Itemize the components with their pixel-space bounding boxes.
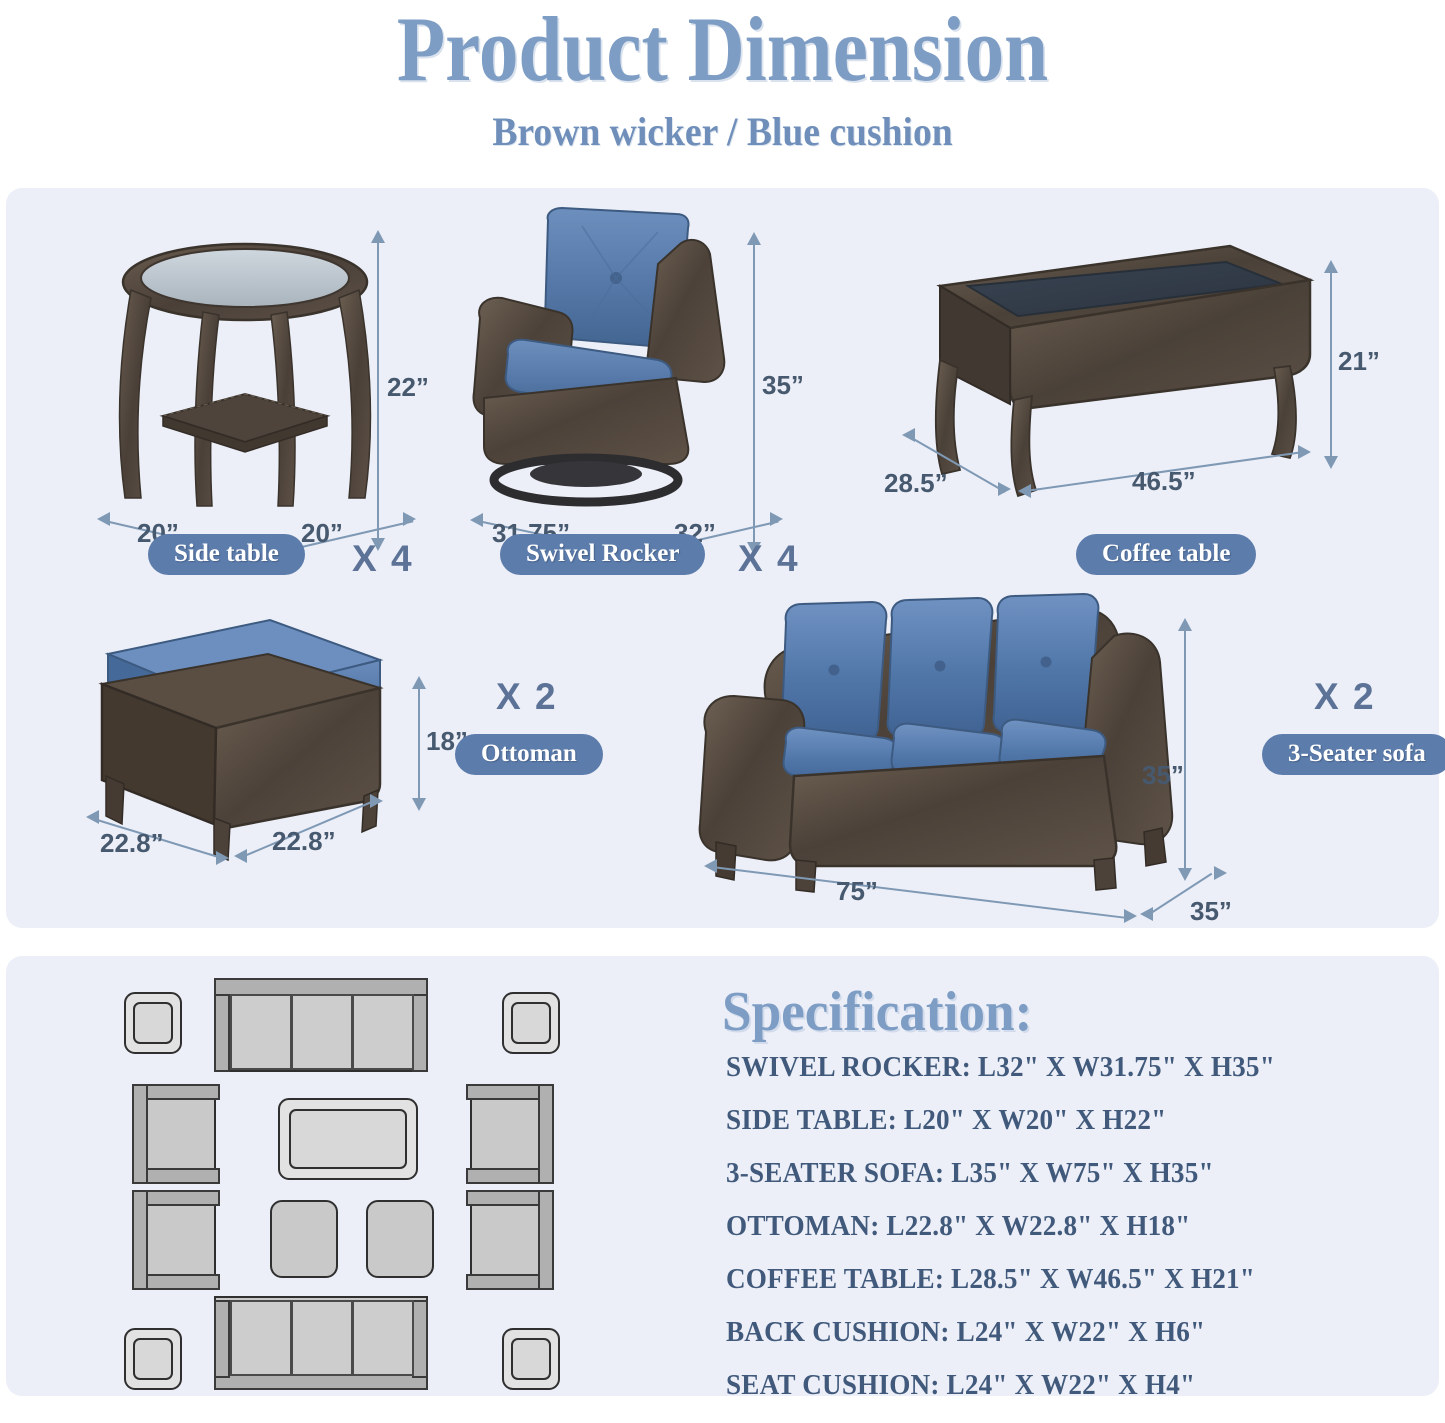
coffee-table-height-label: 21” [1338, 346, 1380, 377]
spec-item: 3-SEATER SOFA: L35" X W75" X H35" [726, 1158, 1405, 1190]
coffee-table-depth-label: 28.5” [884, 468, 948, 499]
page-subtitle: Brown wicker / Blue cushion [43, 108, 1401, 155]
ottoman-width-arrow-left [86, 810, 99, 824]
swivel-rocker-illustration [462, 202, 762, 512]
coffee-table-depth-arrow-right [998, 482, 1011, 496]
spec-item: COFFEE TABLE: L28.5" X W46.5" X H21" [726, 1264, 1405, 1296]
swivel-rocker-width-arrow-left [470, 513, 483, 527]
product-three-seater-sofa: 35” 75” 35” [690, 578, 1250, 908]
plan-side-table-bottom-left [124, 1328, 182, 1390]
ottoman-name: Ottoman [455, 734, 603, 775]
side-table-height-line [377, 240, 379, 540]
side-table-label-pill: Side table [148, 534, 305, 575]
side-table-width-arrow-left [97, 512, 110, 526]
sofa-depth-arrow-right [1214, 866, 1227, 880]
coffee-table-width-arrow-left [1018, 484, 1031, 498]
swivel-rocker-label-pill: Swivel Rocker [500, 534, 705, 575]
swivel-rocker-name: Swivel Rocker [500, 534, 705, 575]
side-table-name: Side table [148, 534, 305, 575]
page-title: Product Dimension [101, 4, 1344, 94]
spec-item: SEAT CUSHION: L24" X W22" X H4" [726, 1370, 1405, 1402]
side-table-depth-arrow-right [403, 512, 416, 526]
plan-swivel-rocker-right-bottom [470, 1190, 554, 1290]
side-table-height-label: 22” [387, 372, 429, 403]
product-side-table: 22” 20” 20” [85, 200, 445, 580]
side-table-height-arrow-up [371, 230, 385, 243]
sofa-depth-label: 35” [1190, 896, 1232, 927]
plan-side-table-top-left [124, 992, 182, 1054]
side-table-quantity: X 4 [352, 538, 414, 580]
sofa-name: 3-Seater sofa [1262, 734, 1445, 775]
ottoman-depth-arrow-left [234, 849, 247, 863]
sofa-quantity: X 2 [1314, 676, 1376, 718]
coffee-table-height-arrow-up [1324, 260, 1338, 273]
plan-ottoman-left [270, 1200, 338, 1278]
plan-swivel-rocker-right-top [470, 1084, 554, 1184]
specification-list: SWIVEL ROCKER: L32" X W31.75" X H35" SID… [726, 1052, 1426, 1423]
swivel-rocker-height-arrow-up [747, 232, 761, 245]
side-table-illustration [95, 220, 395, 520]
sofa-depth-arrow-left [1140, 907, 1153, 921]
sofa-height-arrow-down [1178, 868, 1192, 881]
ottoman-height-arrow-down [412, 798, 426, 811]
product-coffee-table: 21” 28.5” 46.5” [880, 228, 1350, 558]
coffee-table-width-label: 46.5” [1132, 466, 1196, 497]
plan-sofa-bottom [214, 1296, 428, 1390]
swivel-rocker-height-label: 35” [762, 370, 804, 401]
swivel-rocker-height-line [753, 242, 755, 544]
spec-item: OTTOMAN: L22.8" X W22.8" X H18" [726, 1211, 1405, 1243]
plan-side-table-bottom-right [502, 1328, 560, 1390]
sofa-width-arrow-left [704, 859, 717, 873]
spec-item: BACK CUSHION: L24" X W22" X H6" [726, 1317, 1405, 1349]
ottoman-label-pill: Ottoman [455, 734, 603, 775]
ottoman-width-label: 22.8” [100, 828, 164, 859]
ottoman-depth-label: 22.8” [272, 826, 336, 857]
sofa-illustration [690, 580, 1210, 900]
ottoman-height-line [418, 686, 420, 800]
product-swivel-rocker: 35” 31.75” 32” [462, 196, 812, 586]
plan-side-table-top-right [502, 992, 560, 1054]
ottoman-depth-arrow-right [370, 794, 383, 808]
plan-swivel-rocker-left-top [132, 1084, 216, 1184]
ottoman-width-arrow-right [216, 851, 229, 865]
coffee-table-depth-arrow-left [902, 428, 915, 442]
product-ottoman: 18” 22.8” 22.8” [70, 608, 470, 898]
specification-heading: Specification: [722, 980, 1032, 1044]
coffee-table-illustration [890, 228, 1330, 528]
plan-swivel-rocker-left-bottom [132, 1190, 216, 1290]
coffee-table-name: Coffee table [1076, 534, 1256, 575]
sofa-height-line [1184, 628, 1186, 870]
spec-item: SWIVEL ROCKER: L32" X W31.75" X H35" [726, 1052, 1405, 1084]
plan-ottoman-right [366, 1200, 434, 1278]
side-table-depth-label: 20” [301, 518, 343, 549]
plan-coffee-table [278, 1098, 418, 1180]
sofa-height-arrow-up [1178, 618, 1192, 631]
swivel-rocker-depth-arrow-right [770, 512, 783, 526]
coffee-table-height-arrow-down [1324, 456, 1338, 469]
sofa-width-label: 75” [836, 876, 878, 907]
sofa-width-arrow-right [1124, 909, 1137, 923]
sofa-label-pill: 3-Seater sofa [1262, 734, 1445, 775]
page-header: Product Dimension Brown wicker / Blue cu… [0, 0, 1445, 155]
coffee-table-label-pill: Coffee table [1076, 534, 1256, 575]
ottoman-quantity: X 2 [496, 676, 558, 718]
plan-sofa-top [214, 978, 428, 1072]
swivel-rocker-quantity: X 4 [738, 538, 800, 580]
ottoman-height-arrow-up [412, 676, 426, 689]
sofa-height-label: 35” [1142, 760, 1184, 791]
furniture-arrangement-diagram [118, 968, 678, 1388]
coffee-table-height-line [1330, 270, 1332, 458]
spec-item: SIDE TABLE: L20" X W20" X H22" [726, 1105, 1405, 1137]
coffee-table-width-arrow-right [1298, 445, 1311, 459]
